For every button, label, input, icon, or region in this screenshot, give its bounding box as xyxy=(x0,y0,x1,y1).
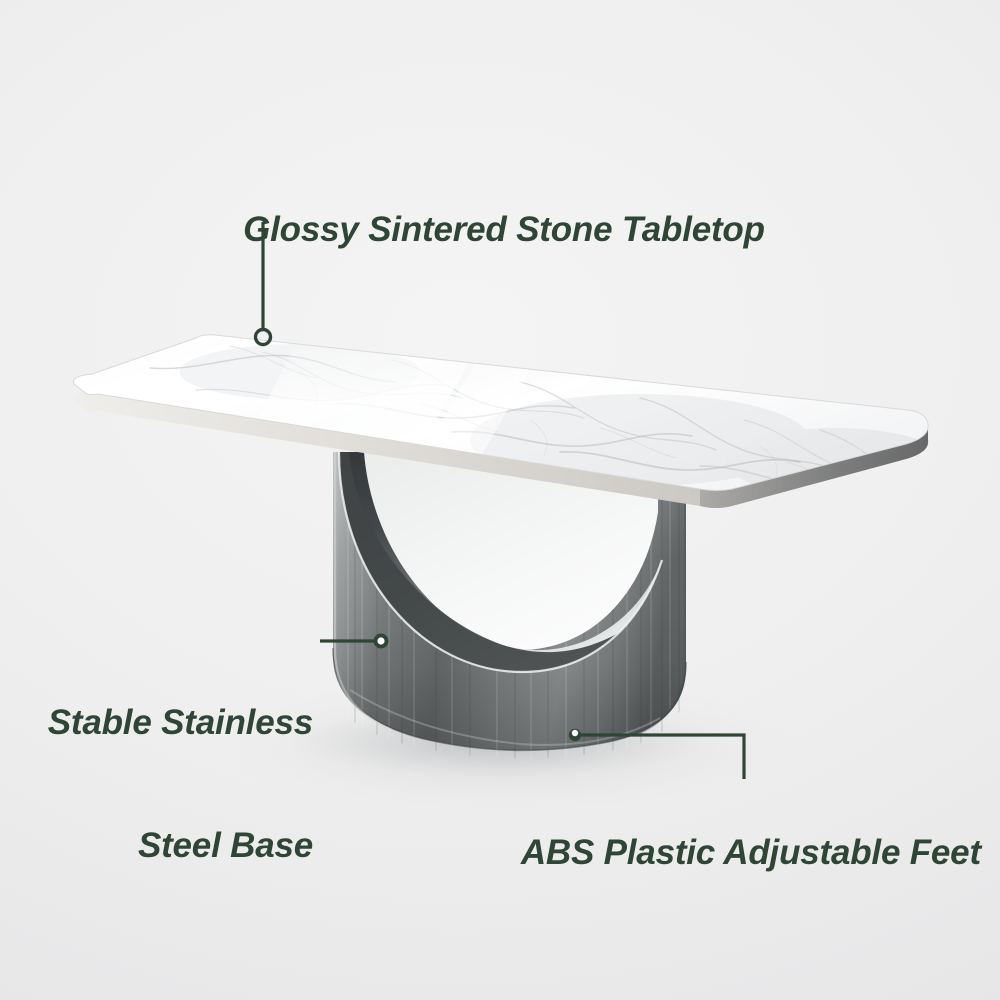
product-callout-scene: Glossy Sintered Stone Tabletop Stable St… xyxy=(0,0,1000,1000)
callout-label-tabletop: Glossy Sintered Stone Tabletop xyxy=(205,168,765,292)
callout-label-base: Stable Stainless Steel Base xyxy=(33,619,313,949)
callout-text-tabletop-line-1: Glossy Sintered Stone Tabletop xyxy=(243,210,765,249)
callout-text-base-line-1: Stable Stainless xyxy=(33,702,313,743)
callout-label-feet: ABS Plastic Adjustable Feet xyxy=(484,791,981,915)
callout-text-base-line-2: Steel Base xyxy=(33,825,313,866)
callout-text-feet-line-1: ABS Plastic Adjustable Feet xyxy=(521,833,981,872)
